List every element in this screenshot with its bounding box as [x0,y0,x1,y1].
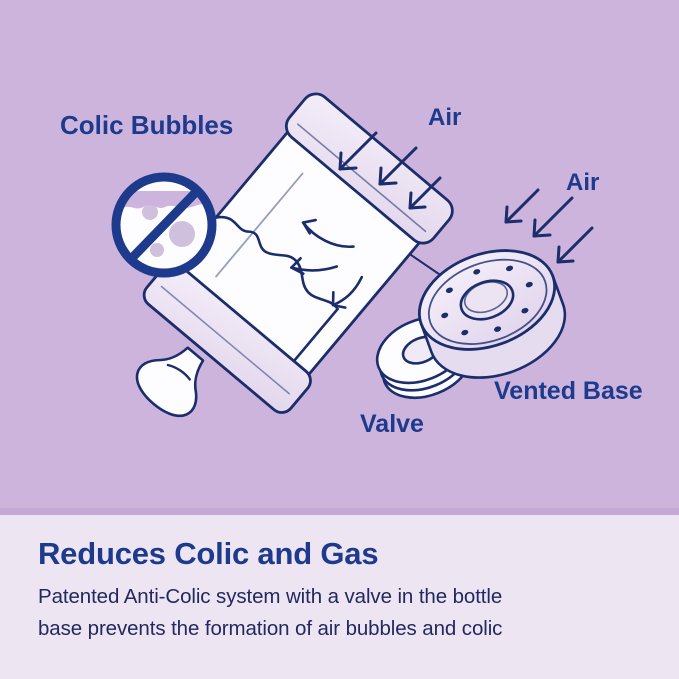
caption-panel: Reduces Colic and Gas Patented Anti-Coli… [0,515,679,679]
illustration-panel: Colic Bubbles Air Air Valve Vented Base [0,0,679,514]
bottle-diagram: Colic Bubbles Air Air Valve Vented Base [0,0,679,514]
label-vented-base: Vented Base [494,377,643,405]
caption-body-line-2: base prevents the formation of air bubbl… [38,613,658,645]
no-bubbles-prohibition-icon [116,177,212,273]
caption-body-line-1: Patented Anti-Colic system with a valve … [38,581,658,613]
product-feature-card: Colic Bubbles Air Air Valve Vented Base … [0,0,679,679]
panel-divider [0,508,679,515]
caption-title: Reduces Colic and Gas [38,537,658,571]
label-air-left: Air [428,104,461,131]
label-colic-bubbles: Colic Bubbles [60,110,233,140]
label-valve: Valve [360,410,424,438]
label-air-right: Air [566,169,599,196]
